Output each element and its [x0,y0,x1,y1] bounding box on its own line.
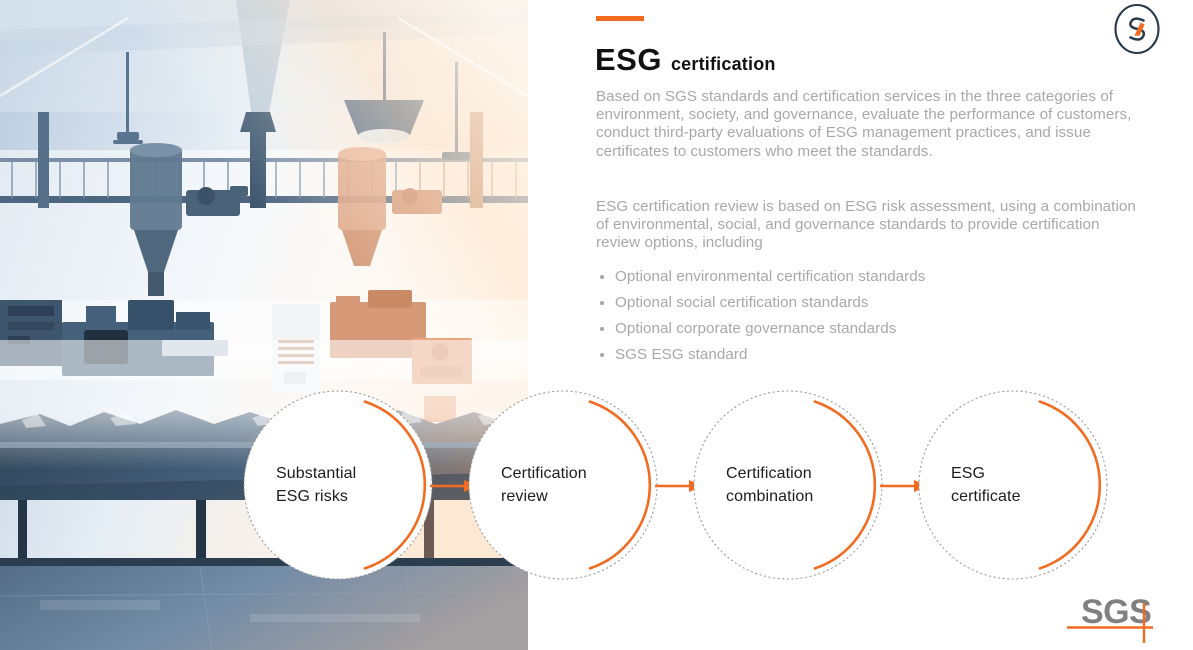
sgs-logo: SGS [1067,587,1185,643]
list-item: Optional corporate governance standards [598,320,925,337]
flow-node-4-label-line1: ESG [951,465,985,482]
intro-paragraph: Based on SGS standards and certification… [596,88,1133,161]
flow-node-2-label-line1: Certification [501,465,587,482]
standards-list: Optional environmental certification sta… [598,268,925,372]
page-title-main: ESG [595,42,662,78]
review-paragraph: ESG certification review is based on ESG… [596,198,1136,253]
page-title-sub: certification [671,54,776,75]
sgs-s-monogram-icon [1110,2,1164,56]
page-title: ESG certification [595,42,776,78]
flow-node-2-label-line2: review [501,488,548,505]
accent-bar [596,16,644,21]
flow-node-1-label-line1: Substantial [276,465,356,482]
sgs-logo-text: SGS [1081,593,1151,631]
flow-node-2-label: Certification review [501,462,631,508]
list-item: SGS ESG standard [598,346,925,363]
flow-node-3-label-line1: Certification [726,465,812,482]
flow-node-4-label-line2: certificate [951,488,1021,505]
flow-node-3-label: Certification combination [726,462,856,508]
flow-node-1-label-line2: ESG risks [276,488,348,505]
flow-node-3-label-line2: combination [726,488,813,505]
slide-canvas: ESG certification Based on SGS standards… [0,0,1193,650]
flow-node-4-label: ESG certificate [951,462,1081,508]
flow-node-2: Certification review [463,385,663,585]
flow-node-1-label: Substantial ESG risks [276,462,406,508]
list-item: Optional social certification standards [598,294,925,311]
list-item: Optional environmental certification sta… [598,268,925,285]
flow-node-3: Certification combination [688,385,888,585]
flow-node-4: ESG certificate [913,385,1113,585]
flow-node-1: Substantial ESG risks [238,385,438,585]
